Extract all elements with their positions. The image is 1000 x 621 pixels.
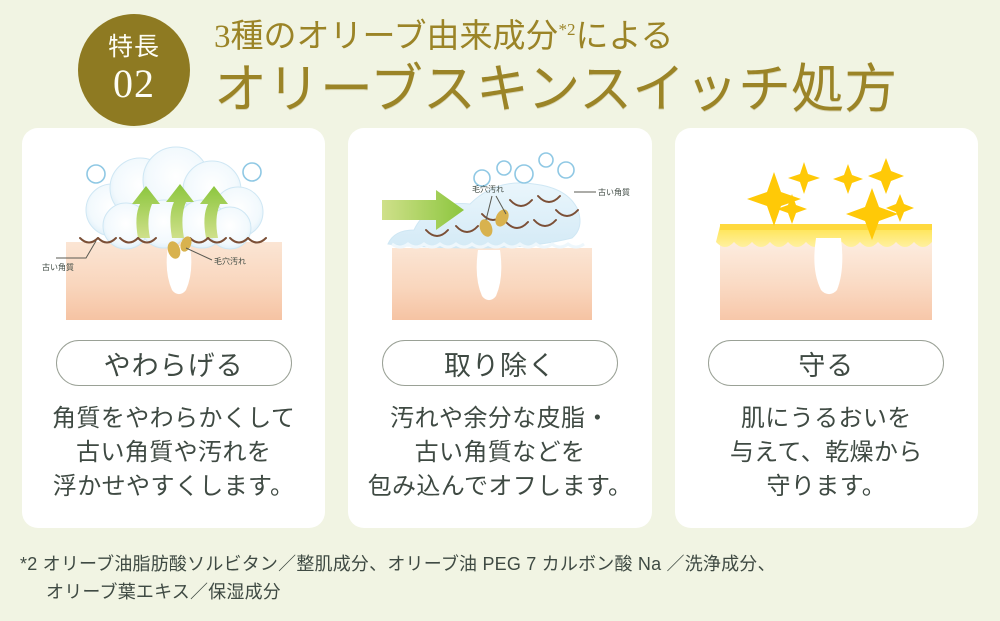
feature-badge: 特長 02: [78, 14, 190, 126]
card-description-protect: 肌にうるおいを 与えて、乾燥から 守ります。: [730, 402, 923, 504]
badge-number: 02: [113, 63, 155, 105]
heading-subline-post: による: [576, 19, 674, 55]
illustration-foam-lifting: 古い角質 毛穴汚れ: [34, 138, 314, 334]
card-description-soften: 角質をやわらかくして 古い角質や汚れを 浮かせやすくします。: [52, 402, 295, 504]
footnote: *2 オリーブ油脂肪酸ソルビタン／整肌成分、オリーブ油 PEG 7 カルボン酸 …: [20, 551, 984, 607]
pore-dirt-label-text: 毛穴汚れ: [472, 184, 504, 194]
pill-label-protect: 守る: [708, 340, 944, 386]
header: 特長 02 3種のオリーブ由来成分*2による オリーブスキンスイッチ処方: [0, 0, 1000, 128]
badge-label: 特長: [108, 35, 160, 60]
feature-card-list: 古い角質 毛穴汚れ やわらげる 角質をやわらかくして 古い角質や汚れを 浮かせや…: [0, 128, 1000, 528]
heading-group: 3種のオリーブ由来成分*2による オリーブスキンスイッチ処方: [214, 17, 897, 123]
desc-line: 浮かせやすくします。: [52, 470, 295, 504]
pill-label-soften: やわらげる: [56, 340, 292, 386]
old-keratin-label-text: 古い角質: [598, 187, 630, 197]
page-title: オリーブスキンスイッチ処方: [214, 59, 897, 123]
feature-card-protect: 守る 肌にうるおいを 与えて、乾燥から 守ります。: [675, 128, 978, 528]
desc-line: 角質をやわらかくして: [52, 402, 295, 436]
desc-line: 古い角質や汚れを: [52, 436, 295, 470]
footnote-marker: *2: [559, 20, 576, 39]
desc-line: 包み込んでオフします。: [368, 470, 633, 504]
footnote-line-2: オリーブ葉エキス／保湿成分: [20, 579, 984, 607]
desc-line: 守ります。: [730, 470, 923, 504]
feature-card-soften: 古い角質 毛穴汚れ やわらげる 角質をやわらかくして 古い角質や汚れを 浮かせや…: [22, 128, 325, 528]
illustration-protected-skin: [686, 138, 966, 334]
illustration-foam-sweeping: 毛穴汚れ 古い角質: [360, 138, 640, 334]
card-description-remove: 汚れや余分な皮脂・ 古い角質などを 包み込んでオフします。: [368, 402, 633, 504]
infographic-page: 特長 02 3種のオリーブ由来成分*2による オリーブスキンスイッチ処方: [0, 0, 1000, 621]
desc-line: 与えて、乾燥から: [730, 436, 923, 470]
heading-subline-pre: 3種のオリーブ由来成分: [214, 19, 559, 55]
feature-card-remove: 毛穴汚れ 古い角質 取り除く 汚れや余分な皮脂・ 古い角質などを 包み込んでオフ…: [348, 128, 651, 528]
desc-line: 肌にうるおいを: [730, 402, 923, 436]
footnote-line-1: *2 オリーブ油脂肪酸ソルビタン／整肌成分、オリーブ油 PEG 7 カルボン酸 …: [20, 554, 776, 574]
pore-dirt-label-text: 毛穴汚れ: [214, 256, 246, 266]
pill-label-remove: 取り除く: [382, 340, 618, 386]
desc-line: 古い角質などを: [368, 436, 633, 470]
old-keratin-label-text: 古い角質: [42, 262, 74, 272]
desc-line: 汚れや余分な皮脂・: [368, 402, 633, 436]
heading-subline: 3種のオリーブ由来成分*2による: [214, 19, 897, 57]
